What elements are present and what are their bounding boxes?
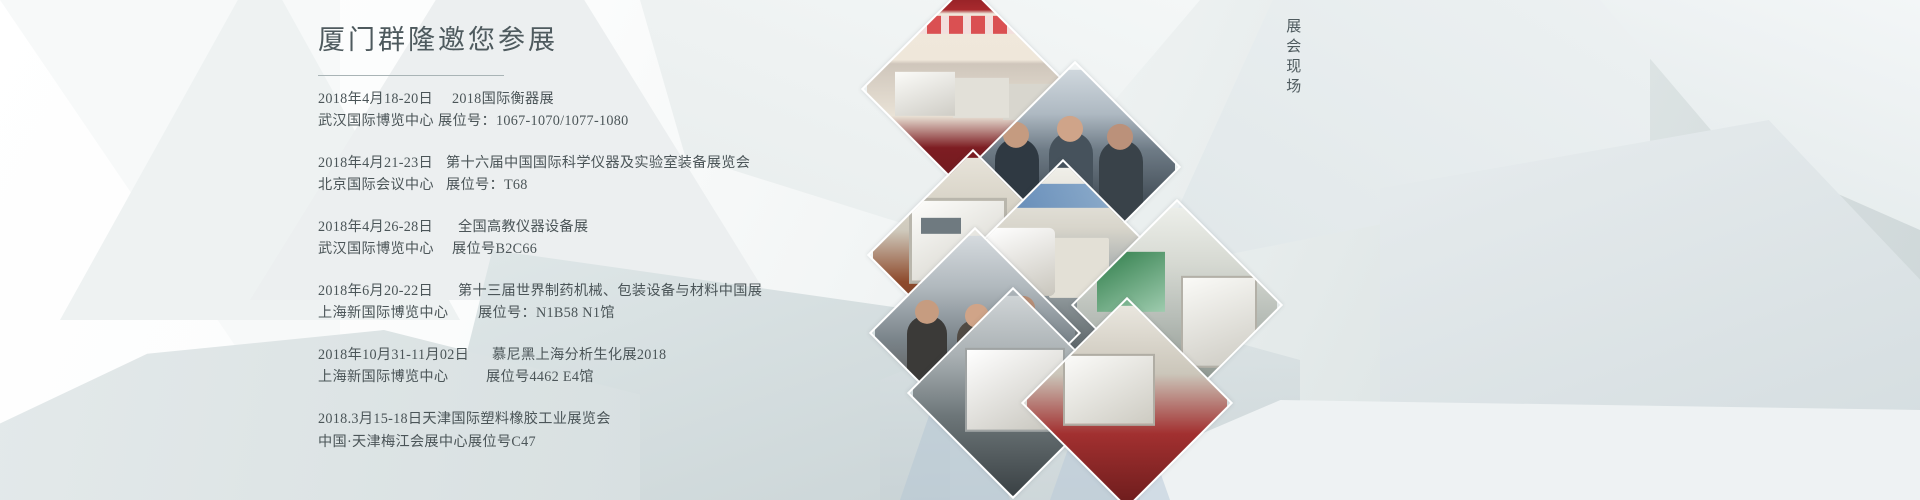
event-booth: 展位号C47 [468,434,536,450]
event-name: 2018国际衡器展 [438,88,554,110]
vertical-label-exhibition-scene: 展会现场 [1283,18,1300,98]
event-name: 第十三届世界制药机械、包装设备与材料中国展 [438,280,762,302]
event-booth: 展位号B2C66 [438,238,537,260]
event-date: 2018年10月31-11月02日 [318,344,478,366]
event-venue: 中国·天津梅江会展中心 [318,434,468,450]
background-facet [1140,400,1920,500]
event-venue: 武汉国际博览中心 [318,110,438,132]
event-venue: 武汉国际博览中心 [318,238,438,260]
event-name: 全国高教仪器设备展 [438,216,588,238]
event-name: 慕尼黑上海分析生化展2018 [478,344,666,366]
photo-collage [840,0,1240,420]
event-name: 第十六届中国国际科学仪器及实验室装备展览会 [438,152,750,174]
event-booth: 展位号：1067-1070/1077-1080 [438,110,629,132]
event-venue: 上海新国际博览中心 [318,302,478,324]
event-booth: 展位号：N1B58 N1馆 [478,302,615,324]
event-date: 2018年4月18-20日 [318,88,438,110]
event-booth: 展位号：T68 [438,174,528,196]
event-booth: 展位号4462 E4馆 [478,366,594,388]
banner-canvas: 厦门群隆邀您参展 2018年4月18-20日 2018国际衡器展 武汉国际博览中… [0,0,1920,500]
event-row-bottom: 中国·天津梅江会展中心展位号C47 [318,431,958,454]
event-name: 2018.3月15-18日天津国际塑料橡胶工业展览会 [318,411,611,427]
event-venue: 北京国际会议中心 [318,174,438,196]
event-venue: 上海新国际博览中心 [318,366,478,388]
event-date: 2018年4月26-28日 [318,216,438,238]
event-date: 2018年6月20-22日 [318,280,438,302]
title-divider [318,75,504,76]
event-date: 2018年4月21-23日 [318,152,438,174]
